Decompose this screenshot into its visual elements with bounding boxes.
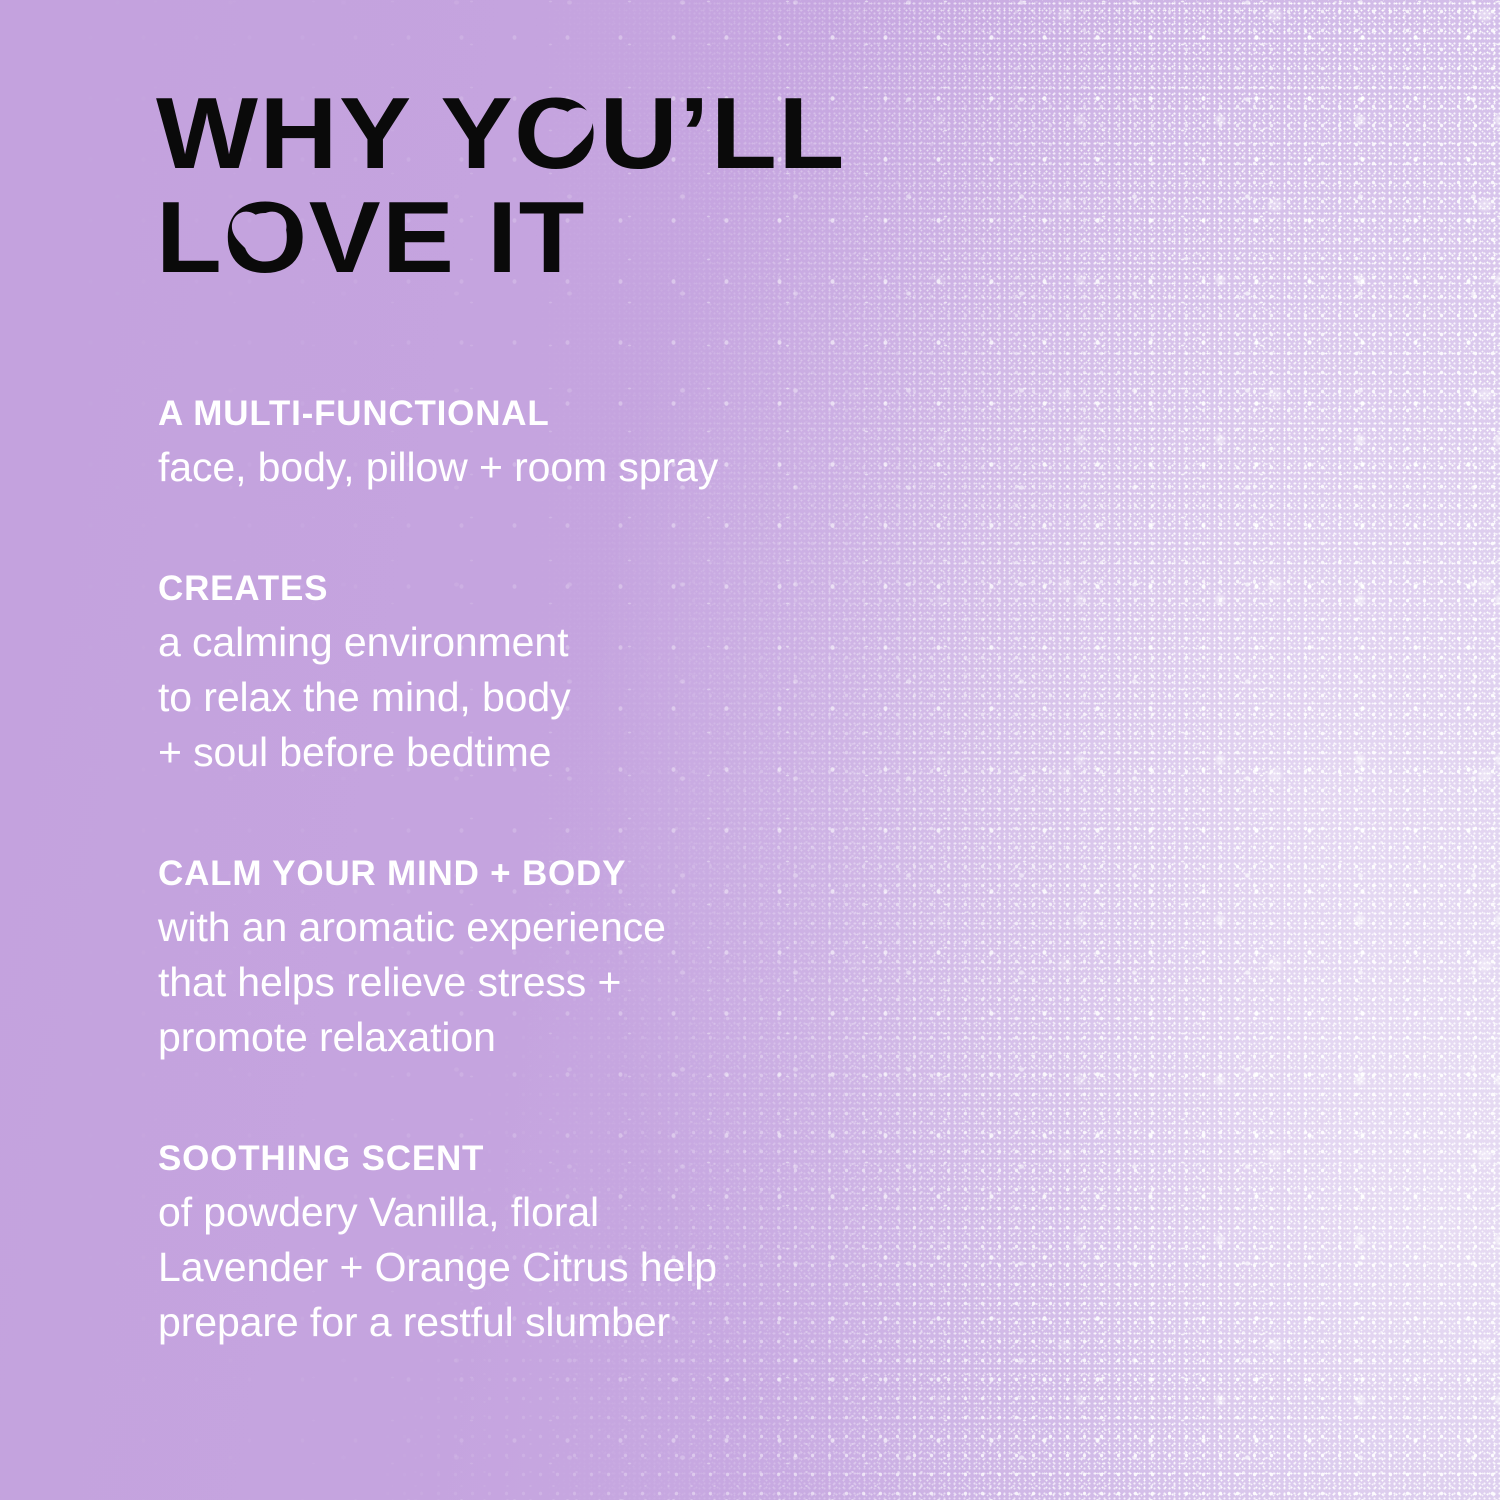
feature-body-line: of powdery Vanilla, floral	[158, 1185, 918, 1240]
feature-body-line: that helps relieve stress +	[158, 955, 918, 1010]
feature-block-calm-mind-body: CALM YOUR MIND + BODY with an aromatic e…	[158, 852, 918, 1065]
svg-text:LOVE IT: LOVE IT	[156, 182, 586, 294]
feature-label: CALM YOUR MIND + BODY	[158, 852, 918, 896]
feature-body: with an aromatic experience that helps r…	[158, 900, 918, 1065]
feature-body-line: face, body, pillow + room spray	[158, 440, 918, 495]
feature-body-line: Lavender + Orange Citrus help	[158, 1240, 918, 1295]
headline-line-2: LOVE IT	[156, 190, 916, 294]
feature-body: face, body, pillow + room spray	[158, 440, 918, 495]
feature-body-line: + soul before bedtime	[158, 725, 918, 780]
feature-body-line: with an aromatic experience	[158, 900, 918, 955]
feature-label: CREATES	[158, 567, 918, 611]
headline-line-1-art: WHY YOU’LL	[156, 86, 856, 190]
page-title: WHY YOU’LL LOVE IT	[156, 86, 916, 294]
feature-body-line: a calming environment	[158, 615, 918, 670]
feature-body-line: prepare for a restful slumber	[158, 1295, 918, 1350]
feature-label: SOOTHING SCENT	[158, 1137, 918, 1181]
headline-line-1: WHY YOU’LL	[156, 86, 916, 190]
feature-block-multi-functional: A MULTI-FUNCTIONAL face, body, pillow + …	[158, 392, 918, 495]
feature-body-line: to relax the mind, body	[158, 670, 918, 725]
feature-body: a calming environment to relax the mind,…	[158, 615, 918, 780]
feature-body-line: promote relaxation	[158, 1010, 918, 1065]
feature-body: of powdery Vanilla, floral Lavender + Or…	[158, 1185, 918, 1350]
product-benefits-poster: WHY YOU’LL LOVE IT A MULTI-FUN	[0, 0, 1500, 1500]
headline-line-2-art: LOVE IT	[156, 190, 856, 294]
poster-content: WHY YOU’LL LOVE IT A MULTI-FUN	[0, 0, 1500, 1500]
feature-block-soothing-scent: SOOTHING SCENT of powdery Vanilla, flora…	[158, 1137, 918, 1350]
feature-label: A MULTI-FUNCTIONAL	[158, 392, 918, 436]
feature-block-creates: CREATES a calming environment to relax t…	[158, 567, 918, 780]
feature-list: A MULTI-FUNCTIONAL face, body, pillow + …	[158, 392, 918, 1350]
svg-text:WHY YOU’LL: WHY YOU’LL	[156, 78, 846, 190]
